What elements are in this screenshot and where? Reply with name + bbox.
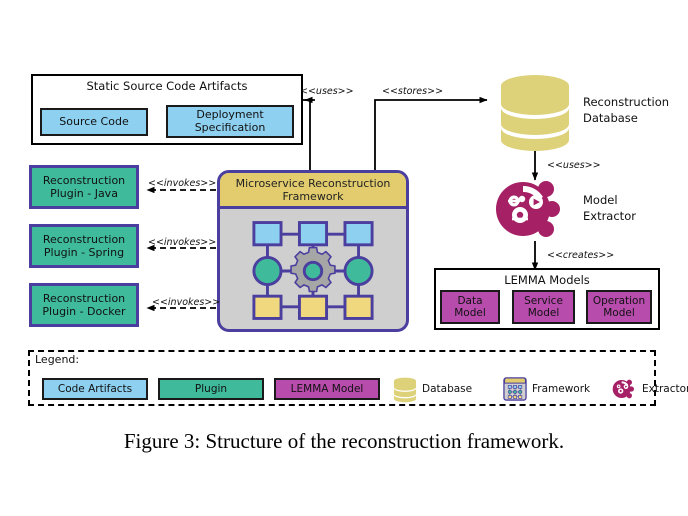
lemma-models-title: LEMMA Models	[434, 272, 660, 288]
database-label: Reconstruction Database	[583, 94, 688, 128]
plugin-reconstruction-spring[interactable]: Reconstruction Plugin - Spring	[29, 224, 139, 268]
lemma-service-model[interactable]: Service Model	[512, 290, 575, 324]
edge-label-invokes-docker: <<invokes>>	[152, 297, 220, 308]
legend-title: Legend:	[35, 353, 79, 366]
model-extractor-icon	[494, 177, 572, 241]
edge-label-uses-database: <<uses>>	[547, 160, 601, 171]
legend-item-framework: Framework	[502, 376, 622, 402]
edge-label-stores: <<stores>>	[382, 86, 443, 97]
legend-item-code-artifacts: Code Artifacts	[42, 378, 148, 400]
legend-extractor-label: Extractor	[642, 383, 688, 395]
edge-label-invokes-java: <<invokes>>	[148, 178, 216, 189]
legend-framework-label: Framework	[532, 383, 590, 395]
edge-label-creates: <<creates>>	[547, 250, 614, 261]
legend-item-database: Database	[392, 376, 502, 402]
legend-item-lemma-model: LEMMA Model	[274, 378, 380, 400]
figure-canvas: Static Source Code Artifacts Source Code…	[0, 0, 688, 516]
legend-extractor-icon	[612, 376, 638, 402]
framework-network-icon	[220, 209, 406, 332]
framework-title: Microservice Reconstruction Framework	[220, 173, 406, 209]
plugin-reconstruction-java[interactable]: Reconstruction Plugin - Java	[29, 165, 139, 209]
edge-label-invokes-spring: <<invokes>>	[148, 237, 216, 248]
artifact-source-code[interactable]: Source Code	[40, 108, 148, 136]
microservice-reconstruction-framework-box[interactable]: Microservice Reconstruction Framework	[217, 170, 409, 332]
legend-item-extractor: Extractor	[612, 376, 688, 402]
plugin-reconstruction-docker[interactable]: Reconstruction Plugin - Docker	[29, 283, 139, 327]
lemma-operation-model[interactable]: Operation Model	[586, 290, 652, 324]
legend-framework-icon	[502, 376, 528, 402]
lemma-data-model[interactable]: Data Model	[440, 290, 500, 324]
artifact-deployment-specification[interactable]: Deployment Specification	[166, 105, 294, 138]
edge-label-uses-artifacts: <<uses>>	[300, 86, 354, 97]
model-extractor-label: Model Extractor	[583, 192, 673, 226]
edge-stores	[375, 100, 487, 170]
legend-database-label: Database	[422, 383, 472, 395]
database-icon	[495, 70, 575, 150]
artifacts-title: Static Source Code Artifacts	[31, 78, 303, 94]
edge-uses-artifacts	[303, 100, 315, 170]
legend-item-plugin: Plugin	[158, 378, 264, 400]
legend-database-icon	[392, 376, 418, 402]
figure-caption: Figure 3: Structure of the reconstructio…	[0, 424, 688, 458]
